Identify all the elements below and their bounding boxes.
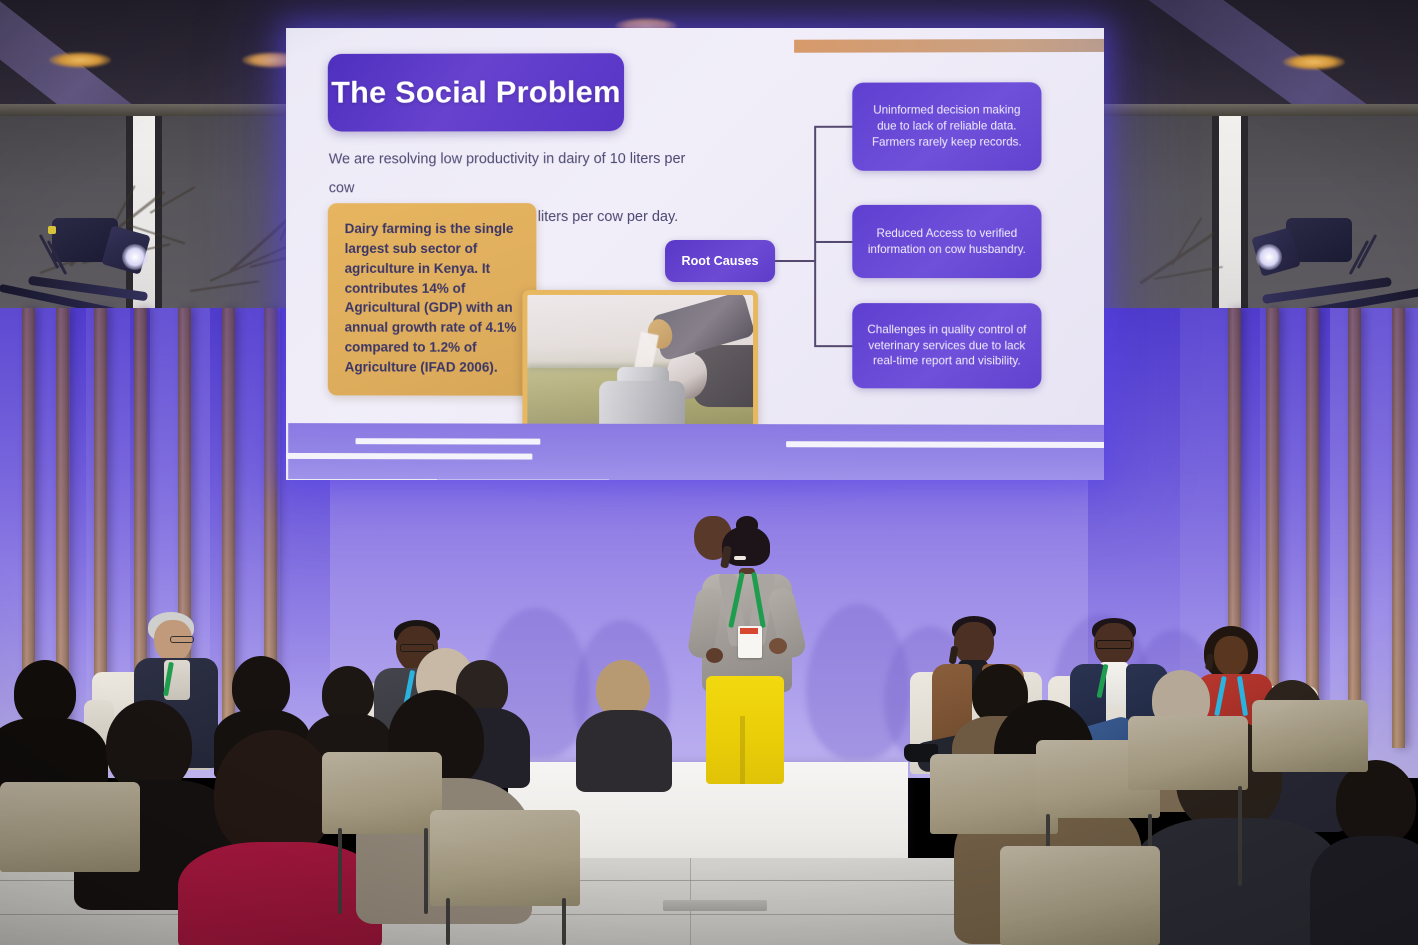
chair-leg (562, 898, 566, 945)
audience-member (576, 660, 672, 790)
slide-title: The Social Problem (331, 74, 621, 110)
floor-drain (663, 900, 767, 911)
root-cause-text-1: Uninformed decision making due to lack o… (865, 103, 1028, 151)
root-causes-node: Root Causes (665, 240, 775, 282)
audience-member (1320, 760, 1418, 945)
audience-chair (1128, 716, 1248, 790)
connector-branch-1 (814, 126, 854, 128)
audience-chair (0, 782, 140, 872)
chair-leg (1238, 786, 1242, 886)
presenter-hand-left (706, 648, 723, 663)
chair-leg (446, 898, 450, 945)
slide-title-badge: The Social Problem (328, 53, 624, 131)
audience-chair (322, 752, 442, 834)
slide-footer-band (288, 423, 1104, 480)
projection-screen: The Social Problem We are resolving low … (286, 28, 1104, 480)
presentation-slide: The Social Problem We are resolving low … (288, 28, 1104, 480)
downlight (1283, 54, 1345, 70)
connector-branch-3 (814, 345, 854, 347)
slide-callout-text: Dairy farming is the single largest sub … (345, 219, 522, 377)
audience-chair (430, 810, 580, 906)
eyeglasses (1096, 640, 1132, 649)
root-cause-box-1: Uninformed decision making due to lack o… (852, 82, 1041, 171)
connector-spine (814, 126, 816, 346)
chair-leg (424, 828, 428, 914)
audience-chair (1252, 700, 1368, 772)
slide-callout-box: Dairy farming is the single largest sub … (328, 203, 537, 395)
root-causes-label: Root Causes (682, 254, 759, 268)
presenter (694, 516, 800, 786)
eyeglasses (170, 636, 194, 643)
connector-branch-2 (814, 241, 854, 243)
conference-photo-scene: The Social Problem We are resolving low … (0, 0, 1418, 945)
presenter-hand-right (769, 638, 787, 654)
root-cause-text-3: Challenges in quality control of veterin… (865, 322, 1028, 370)
root-cause-box-3: Challenges in quality control of veterin… (852, 303, 1041, 388)
wood-slat (1392, 308, 1405, 748)
root-cause-text-2: Reduced Access to verified information o… (865, 226, 1028, 258)
audience-chair (1000, 846, 1160, 945)
stage-light-left (10, 208, 180, 318)
stage-light-right (1240, 208, 1418, 318)
root-cause-box-2: Reduced Access to verified information o… (852, 205, 1041, 278)
presenter-badge (738, 626, 762, 658)
presenter-mouth (734, 556, 746, 560)
wood-slat (1348, 308, 1361, 748)
slide-intro-line-1: We are resolving low productivity in dai… (329, 145, 707, 203)
headset-mic (949, 646, 959, 665)
connector-stub (775, 260, 815, 262)
slide-accent-bar (794, 39, 1104, 53)
downlight (49, 52, 111, 68)
presenter-trousers (706, 676, 784, 784)
chair-leg (338, 828, 342, 914)
